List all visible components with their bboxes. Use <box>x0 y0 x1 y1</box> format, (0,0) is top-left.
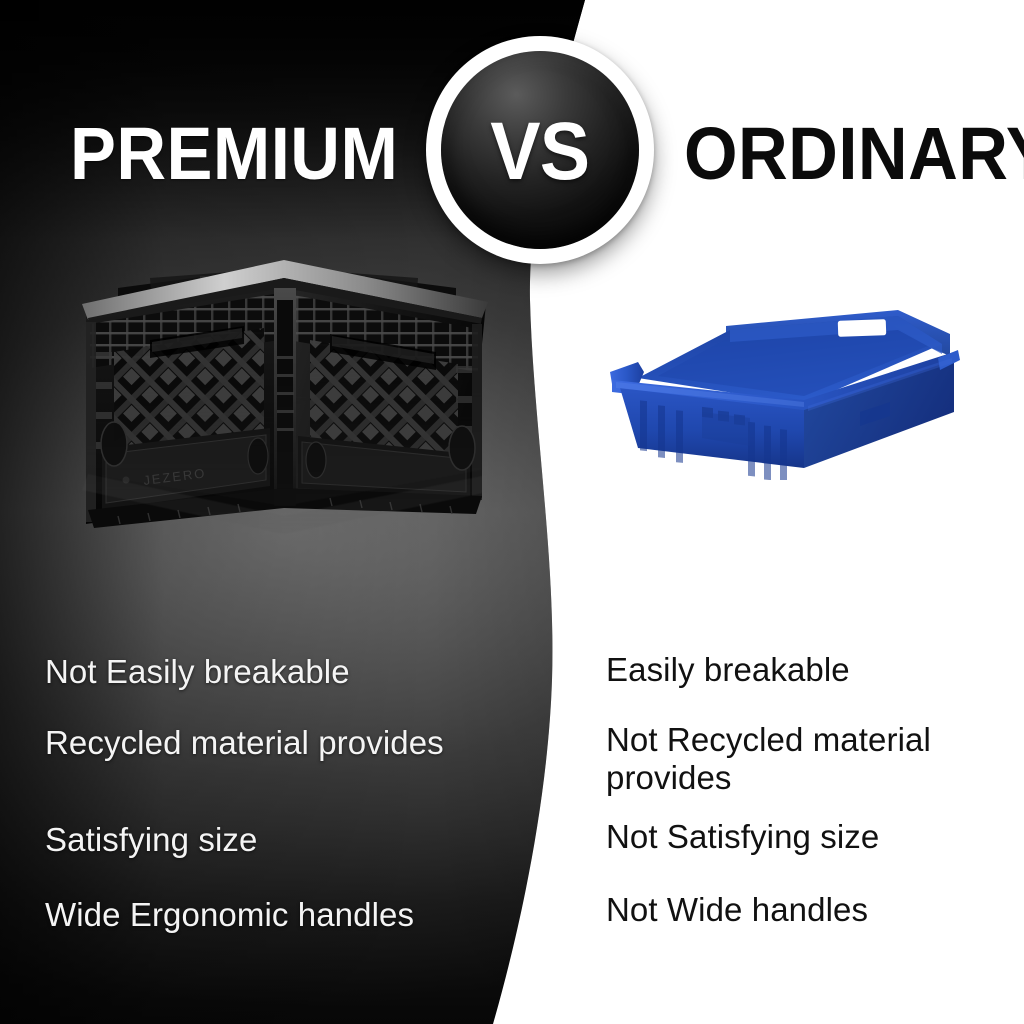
versus-badge: VS <box>426 36 654 264</box>
premium-product-reflection <box>58 361 510 546</box>
comparison-infographic: JEZERO <box>0 0 1024 1024</box>
premium-feature-4: Wide Ergonomic handles <box>45 896 550 934</box>
tray-handle-slot <box>838 319 887 337</box>
premium-feature-2: Recycled material provides <box>45 724 550 762</box>
ordinary-title: ORDINARY <box>684 117 1024 191</box>
ordinary-feature-4: Not Wide handles <box>606 891 1006 929</box>
versus-badge-inner: VS <box>441 51 639 249</box>
premium-feature-1: Not Easily breakable <box>45 653 550 691</box>
premium-title: PREMIUM <box>70 117 398 191</box>
ordinary-feature-3: Not Satisfying size <box>606 818 1006 856</box>
ordinary-product-image <box>598 300 978 480</box>
versus-label: VS <box>491 111 590 193</box>
premium-feature-3: Satisfying size <box>45 821 550 859</box>
blue-tray-illustration <box>598 300 978 480</box>
ordinary-feature-1: Easily breakable <box>606 651 1006 689</box>
ordinary-feature-2: Not Recycled material provides <box>606 721 1006 797</box>
